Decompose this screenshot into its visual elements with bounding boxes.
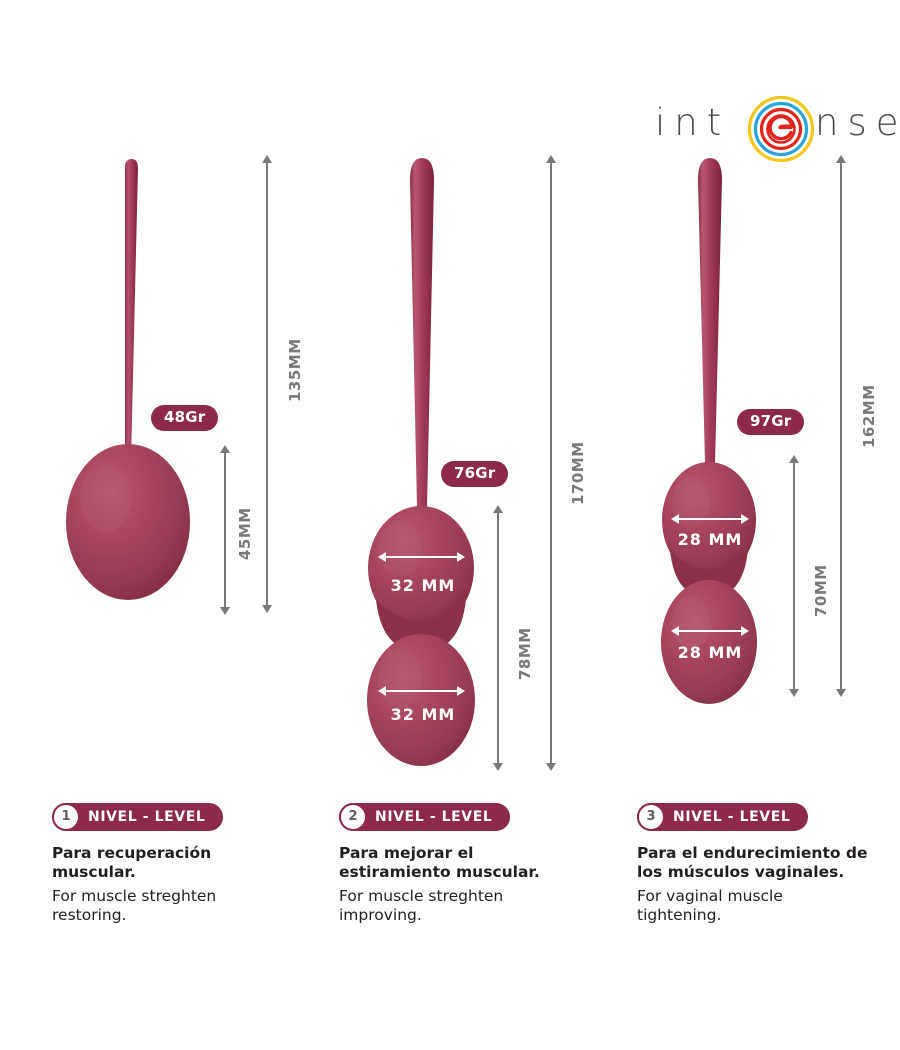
weight-badge-level-2: 76Gr: [441, 461, 508, 487]
level-number-2: 2: [339, 803, 367, 831]
level-description-es-line2-3: los músculos vaginales.: [637, 863, 892, 882]
measure-total-length-level-3: [840, 162, 842, 690]
width-arrow-lower-level-3: [678, 630, 742, 632]
measure-total-length-level-1: [266, 162, 268, 606]
level-description-en-line1-1: For muscle streghten: [52, 887, 302, 906]
product-image-level-2: [290, 0, 590, 790]
weight-badge-level-3: 97Gr: [737, 409, 804, 435]
level-description-es-3: Para el endurecimiento de los músculos v…: [637, 844, 892, 882]
width-label-upper-level-3: 28 MM: [656, 530, 764, 549]
level-pill-label-3: NIVEL - LEVEL: [673, 809, 790, 825]
width-arrow-upper-level-3: [678, 518, 742, 520]
measure-label-total-length-level-3: 162MM: [862, 384, 877, 448]
level-description-en-3: For vaginal muscle tightening.: [637, 887, 892, 925]
level-pill-1: 1 NIVEL - LEVEL: [52, 803, 223, 831]
level-description-en-line2-2: improving.: [339, 906, 609, 925]
level-pill-3: 3 NIVEL - LEVEL: [637, 803, 808, 831]
width-arrow-upper-level-2: [385, 556, 458, 558]
measure-label-total-length-level-2: 170MM: [571, 441, 586, 505]
level-number-3: 3: [637, 803, 665, 831]
level-description-en-1: For muscle streghten restoring.: [52, 887, 302, 925]
level-description-es-line1-1: Para recuperación: [52, 844, 302, 863]
level-description-en-2: For muscle streghten improving.: [339, 887, 609, 925]
level-description-es-line2-1: muscular.: [52, 863, 302, 882]
level-block-3: 3 NIVEL - LEVEL Para el endurecimiento d…: [637, 803, 892, 925]
measure-ball-height-level-1: [224, 452, 226, 608]
level-description-en-line2-3: tightening.: [637, 906, 892, 925]
level-description-en-line1-3: For vaginal muscle: [637, 887, 892, 906]
measure-label-balls-height-level-3: 70MM: [814, 564, 829, 617]
level-description-es-1: Para recuperación muscular.: [52, 844, 302, 882]
level-description-es-line1-3: Para el endurecimiento de: [637, 844, 892, 863]
product-image-level-3: [590, 0, 890, 790]
level-block-2: 2 NIVEL - LEVEL Para mejorar el estirami…: [339, 803, 609, 925]
level-description-es-line2-2: estiramiento muscular.: [339, 863, 609, 882]
width-arrow-lower-level-2: [385, 690, 458, 692]
level-description-es-2: Para mejorar el estiramiento muscular.: [339, 844, 609, 882]
measure-balls-height-level-2: [497, 512, 499, 764]
measure-label-balls-height-level-2: 78MM: [518, 627, 533, 680]
measure-balls-height-level-3: [793, 462, 795, 690]
product-image-level-1: [0, 0, 300, 790]
level-description-es-line1-2: Para mejorar el: [339, 844, 609, 863]
weight-badge-level-1: 48Gr: [151, 405, 218, 431]
width-label-upper-level-2: 32 MM: [368, 576, 478, 595]
product-column-level-1: 48Gr 45MM 135MM: [0, 0, 300, 790]
level-description-en-line2-1: restoring.: [52, 906, 302, 925]
level-description-en-line1-2: For muscle streghten: [339, 887, 609, 906]
width-label-lower-level-2: 32 MM: [368, 705, 478, 724]
level-pill-2: 2 NIVEL - LEVEL: [339, 803, 510, 831]
level-block-1: 1 NIVEL - LEVEL Para recuperación muscul…: [52, 803, 302, 925]
width-label-lower-level-3: 28 MM: [656, 643, 764, 662]
product-column-level-2: 76Gr 32 MM 32 MM 78MM 170MM: [290, 0, 590, 790]
level-pill-label-1: NIVEL - LEVEL: [88, 809, 205, 825]
measure-label-ball-height-level-1: 45MM: [238, 507, 253, 560]
level-pill-label-2: NIVEL - LEVEL: [375, 809, 492, 825]
level-number-1: 1: [52, 803, 80, 831]
measure-total-length-level-2: [550, 162, 552, 764]
product-column-level-3: 97Gr 28 MM 28 MM 70MM 162MM: [590, 0, 890, 790]
